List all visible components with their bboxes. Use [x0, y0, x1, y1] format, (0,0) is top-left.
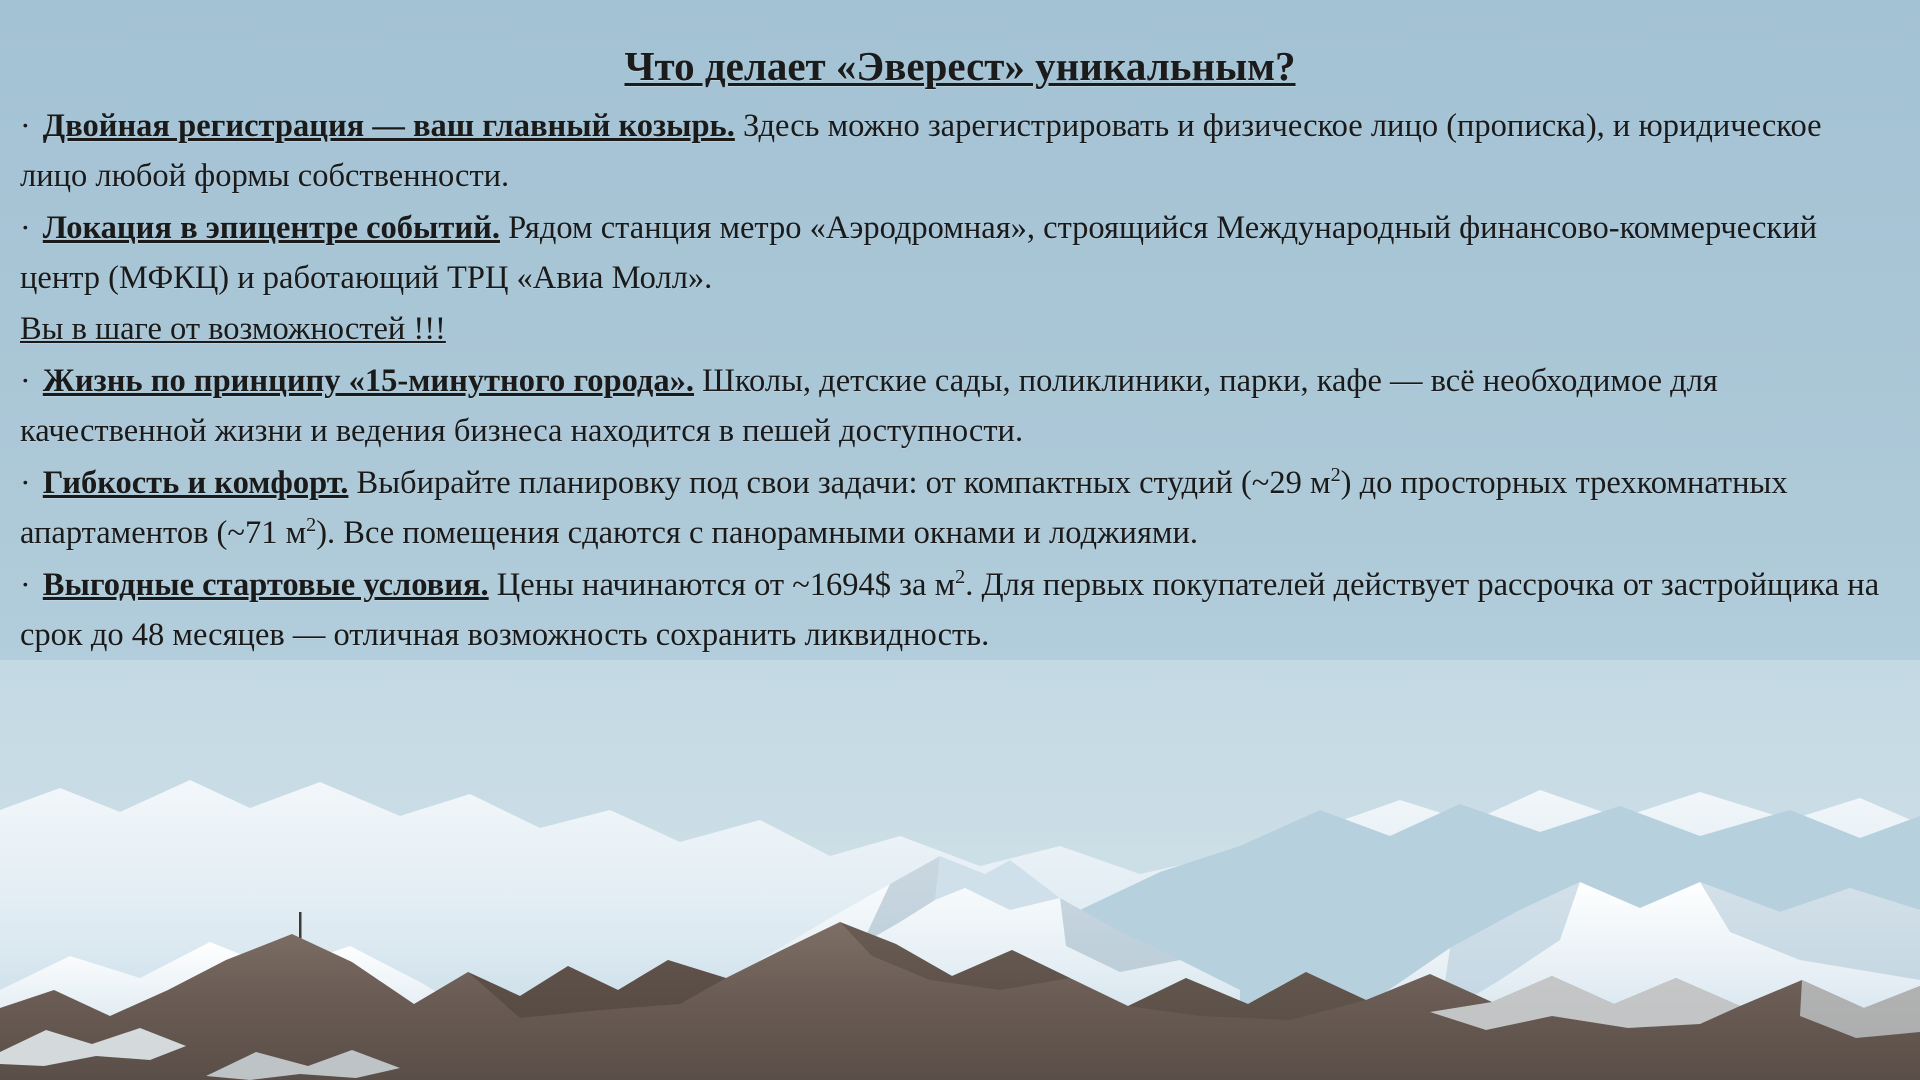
bullet-marker-3: ·: [20, 362, 35, 398]
list-item-body-4c: ). Все помещения сдаются с панорамными о…: [316, 515, 1198, 551]
list-item-lead-5: Выгодные стартовые условия.: [43, 567, 489, 603]
bullet-marker-4: ·: [20, 464, 35, 500]
bullet-marker-1: ·: [20, 107, 35, 143]
list-item-location: · Локация в эпицентре событий. Рядом ста…: [20, 202, 1894, 303]
presentation-slide: Что делает «Эверест» уникальным? · Двойн…: [0, 0, 1920, 1080]
bullet-list: · Двойная регистрация — ваш главный козы…: [0, 92, 1920, 660]
bullet-marker-2: ·: [20, 209, 35, 245]
mountain-photo: [0, 660, 1920, 1080]
highlight-line-text: Вы в шаге от возможностей !!!: [20, 311, 446, 347]
list-item-lead-2: Локация в эпицентре событий.: [43, 210, 500, 246]
list-item-body-5a: Цены начинаются от ~1694$ за м: [497, 567, 955, 603]
list-item-body-4a: Выбирайте планировку под свои задачи: от…: [357, 465, 1331, 501]
square-meter-superscript-2: 2: [306, 514, 316, 536]
square-meter-superscript-1: 2: [1331, 464, 1341, 486]
list-item-dual-registration: · Двойная регистрация — ваш главный козы…: [20, 100, 1894, 201]
bullet-marker-5: ·: [20, 566, 35, 602]
page-title: Что делает «Эверест» уникальным?: [0, 0, 1920, 92]
highlight-line: Вы в шаге от возможностей !!!: [20, 304, 1894, 354]
list-item-lead-1: Двойная регистрация — ваш главный козырь…: [43, 108, 735, 144]
slide-content: Что делает «Эверест» уникальным? · Двойн…: [0, 0, 1920, 661]
square-meter-superscript-3: 2: [955, 566, 965, 588]
list-item-flexibility-comfort: · Гибкость и комфорт. Выбирайте планиров…: [20, 457, 1894, 558]
list-item-lead-3: Жизнь по принципу «15-минутного города».: [43, 363, 694, 399]
list-item-starting-conditions: · Выгодные стартовые условия. Цены начин…: [20, 559, 1894, 660]
list-item-lead-4: Гибкость и комфорт.: [43, 465, 349, 501]
list-item-15-minute-city: · Жизнь по принципу «15-минутного города…: [20, 355, 1894, 456]
